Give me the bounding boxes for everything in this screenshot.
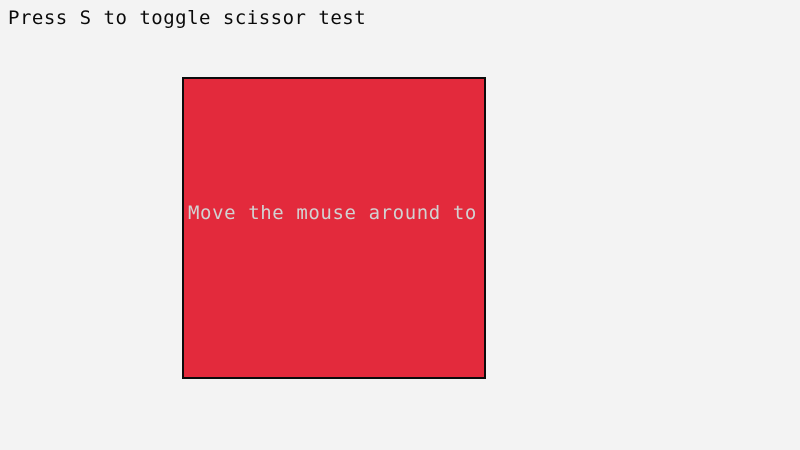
app-canvas[interactable]: Press S to toggle scissor test Move the … [0, 0, 800, 450]
scissor-clipped-label: Move the mouse around to resize this rec… [188, 201, 486, 225]
header-instruction-text: Press S to toggle scissor test [8, 6, 366, 30]
scissor-rectangle[interactable]: Move the mouse around to resize this rec… [182, 77, 486, 379]
